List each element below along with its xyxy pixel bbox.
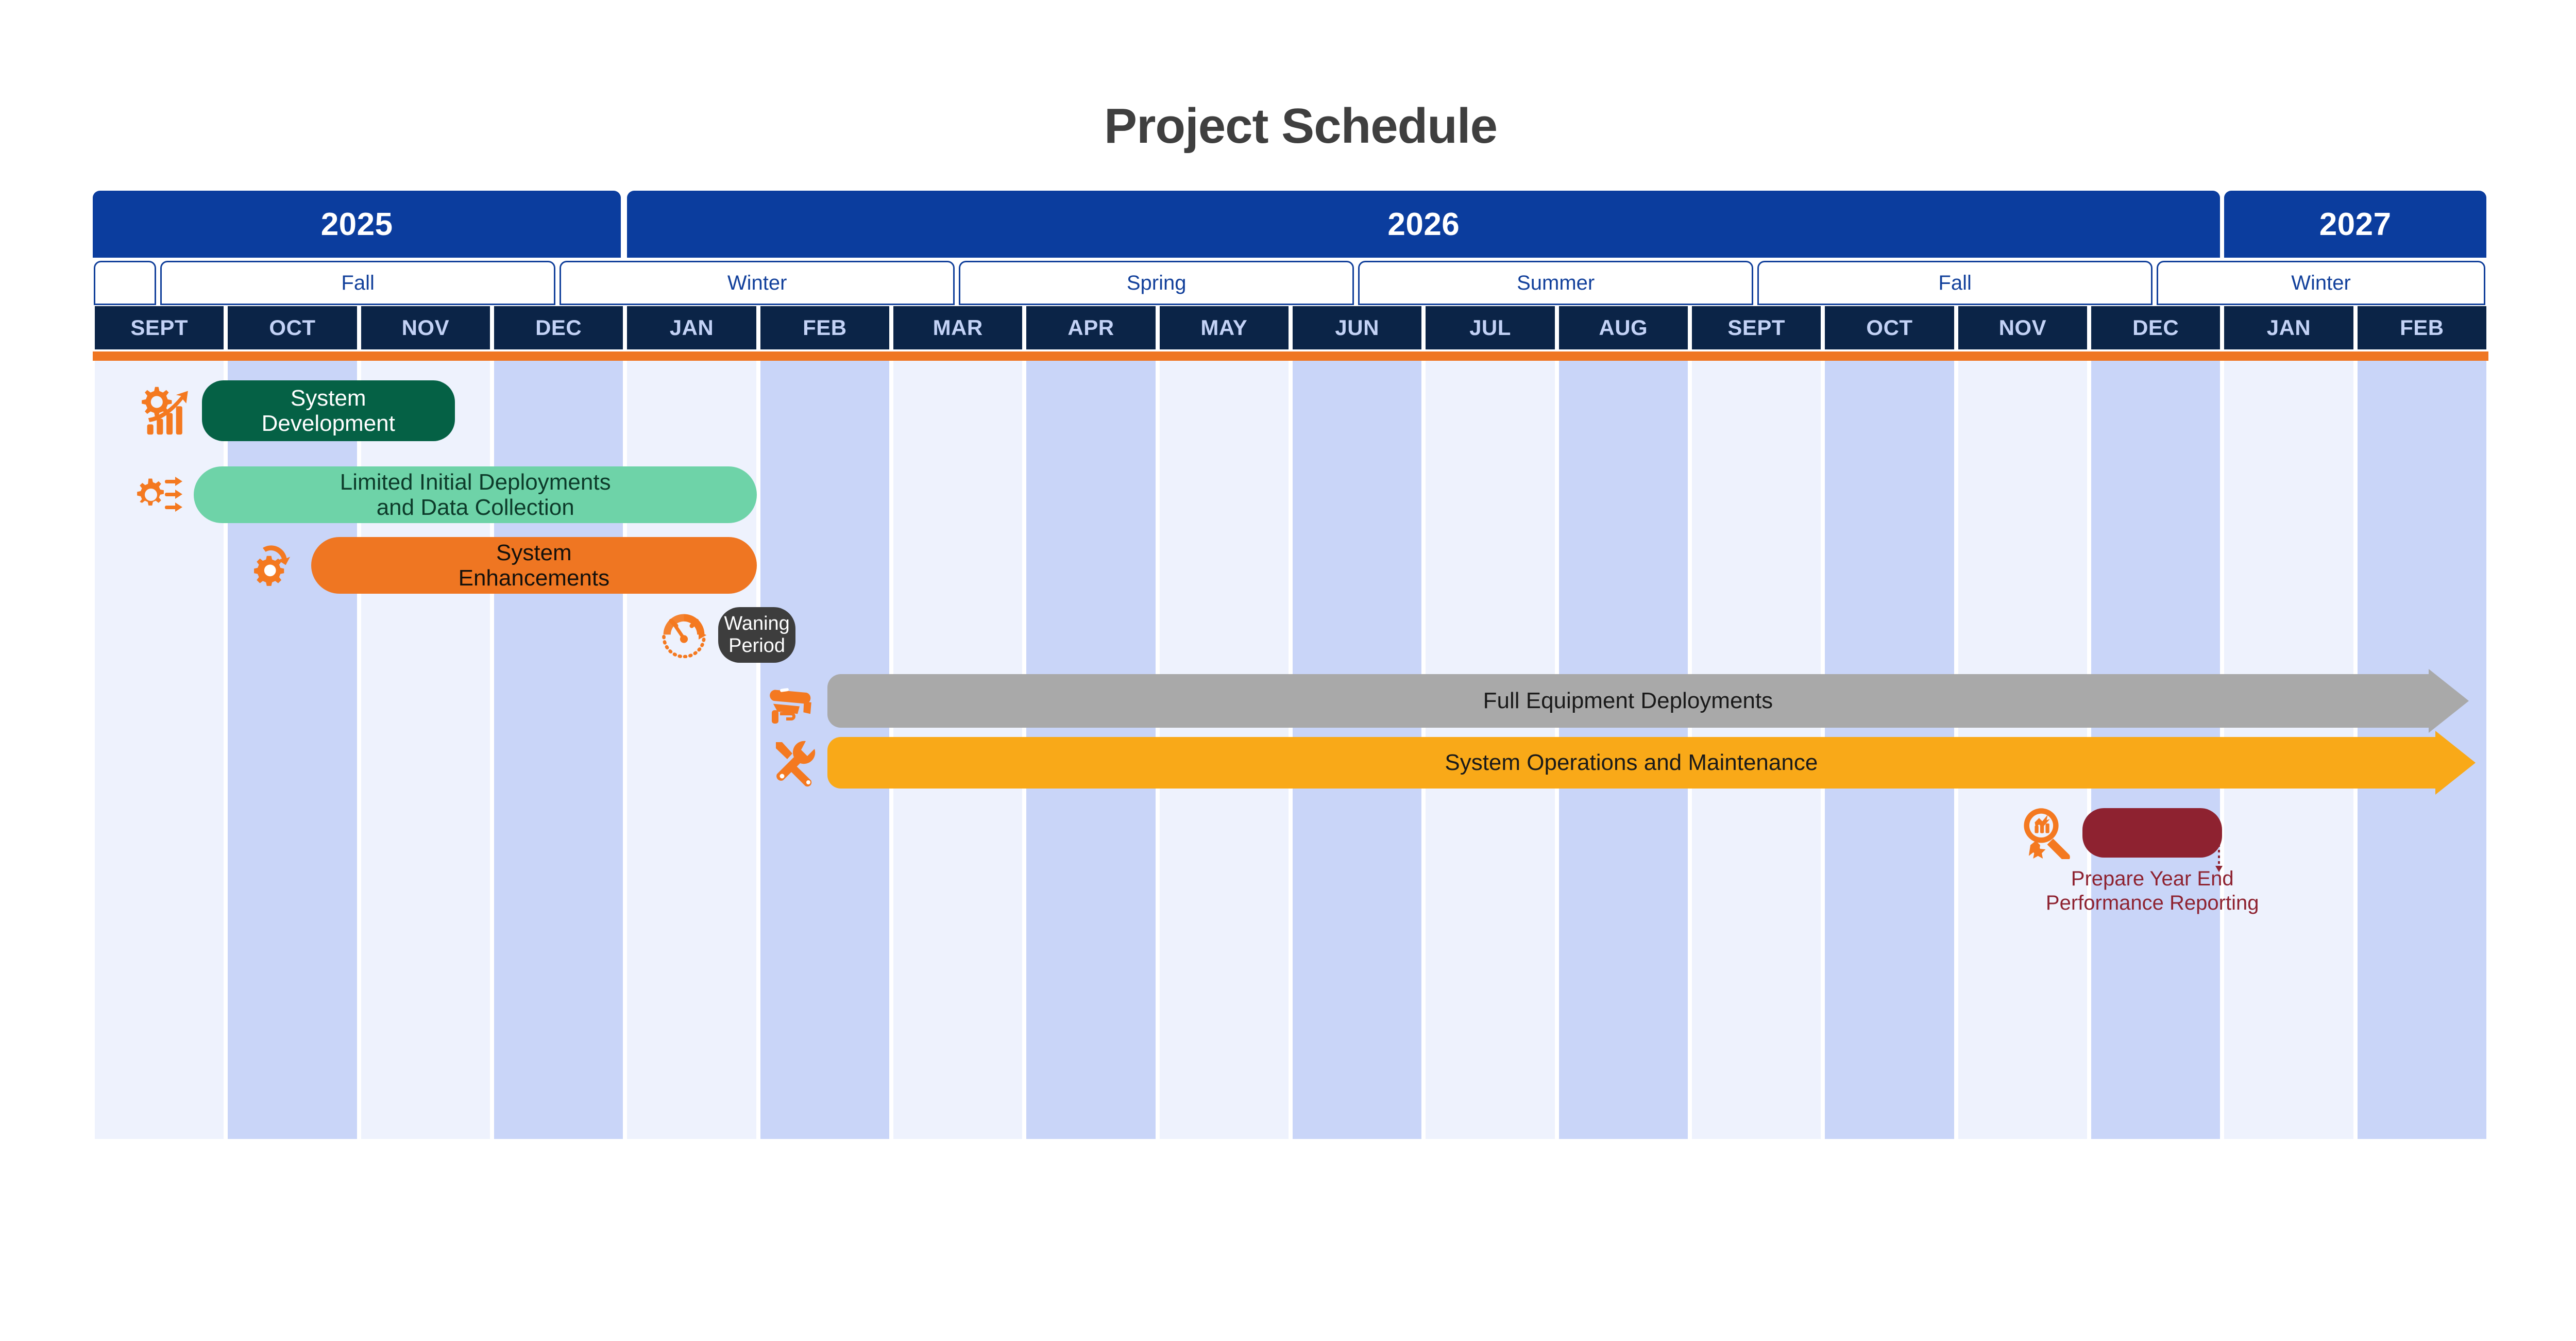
month-header-14-nov: NOV xyxy=(1958,306,2087,349)
security-camera-icon xyxy=(769,675,820,727)
month-header-1-oct: OCT xyxy=(228,306,357,349)
task-bar-label: SystemDevelopment xyxy=(248,385,409,437)
month-header-3-dec: DEC xyxy=(494,306,623,349)
gauge-meter-icon xyxy=(659,609,711,661)
month-header-4-jan: JAN xyxy=(627,306,756,349)
gear-growth-chart-icon xyxy=(138,382,195,439)
month-header-row: SEPTOCTNOVDECJANFEBMARAPRMAYJUNJULAUGSEP… xyxy=(93,306,2488,349)
month-header-2-nov: NOV xyxy=(361,306,490,349)
wrench-screwdriver-icon xyxy=(769,737,820,789)
gear-arrows-icon xyxy=(135,469,187,521)
year-header-2026: 2026 xyxy=(627,191,2220,258)
task-bar-full-equipment-deployments[interactable]: Full Equipment Deployments xyxy=(827,674,2429,728)
month-header-0-sept: SEPT xyxy=(95,306,224,349)
season-header-fall-5: Fall xyxy=(1757,261,2153,305)
month-header-5-feb: FEB xyxy=(760,306,889,349)
dotted-connector-arrow-icon xyxy=(2213,844,2225,877)
task-bar-system-enhancements[interactable]: SystemEnhancements xyxy=(311,537,757,594)
timeline-grid: 202520262027 FallWinterSpringSummerFallW… xyxy=(93,191,2488,1170)
task-bar-label: Limited Initial Deploymentsand Data Coll… xyxy=(327,470,624,521)
task-bar-system-operations-and-maintenance[interactable]: System Operations and Maintenance xyxy=(827,737,2435,789)
task-bar-label: WaningPeriod xyxy=(710,613,803,657)
season-header-summer-4: Summer xyxy=(1358,261,1753,305)
month-header-15-dec: DEC xyxy=(2091,306,2220,349)
season-header-fall-1: Fall xyxy=(160,261,555,305)
month-header-6-mar: MAR xyxy=(893,306,1022,349)
month-header-11-aug: AUG xyxy=(1559,306,1688,349)
magnifier-chart-award-icon xyxy=(2020,805,2075,861)
season-header-spring-3: Spring xyxy=(959,261,1354,305)
month-header-9-jun: JUN xyxy=(1293,306,1421,349)
task-bar-label: SystemEnhancements xyxy=(445,540,623,591)
season-header-row: FallWinterSpringSummerFallWinter xyxy=(93,261,2488,305)
season-header-blank xyxy=(94,261,156,305)
header-divider-rule xyxy=(93,351,2488,361)
task-bar-system-development[interactable]: SystemDevelopment xyxy=(202,380,455,441)
gears-recycle-icon xyxy=(252,540,304,591)
page-title: Project Schedule xyxy=(0,98,2576,155)
season-header-winter-2: Winter xyxy=(560,261,955,305)
task-bar-label: System Operations and Maintenance xyxy=(1431,750,1831,775)
month-header-8-may: MAY xyxy=(1160,306,1289,349)
project-schedule-timeline: Project Schedule 202520262027 FallWinter… xyxy=(0,0,2576,1341)
season-header-winter-6: Winter xyxy=(2157,261,2485,305)
month-header-12-sept: SEPT xyxy=(1692,306,1821,349)
task-under-label: Prepare Year EndPerformance Reporting xyxy=(1985,867,2320,915)
year-header-2025: 2025 xyxy=(93,191,621,258)
task-bar-label: Full Equipment Deployments xyxy=(1470,688,1786,713)
year-header-2027: 2027 xyxy=(2224,191,2486,258)
month-header-7-apr: APR xyxy=(1026,306,1155,349)
month-header-10-jul: JUL xyxy=(1426,306,1554,349)
month-header-13-oct: OCT xyxy=(1825,306,1954,349)
month-header-16-jan: JAN xyxy=(2224,306,2353,349)
task-bars-layer: SystemDevelopmentLimited Initial Deploym… xyxy=(93,361,2488,1139)
task-bar-prepare-year-end-performance-reporting[interactable] xyxy=(2082,808,2222,858)
task-bar-limited-initial-deployments-and-data-collection[interactable]: Limited Initial Deploymentsand Data Coll… xyxy=(194,466,757,523)
task-bar-waning-period[interactable]: WaningPeriod xyxy=(718,607,795,663)
month-header-17-feb: FEB xyxy=(2358,306,2486,349)
year-header-row: 202520262027 xyxy=(93,191,2488,258)
